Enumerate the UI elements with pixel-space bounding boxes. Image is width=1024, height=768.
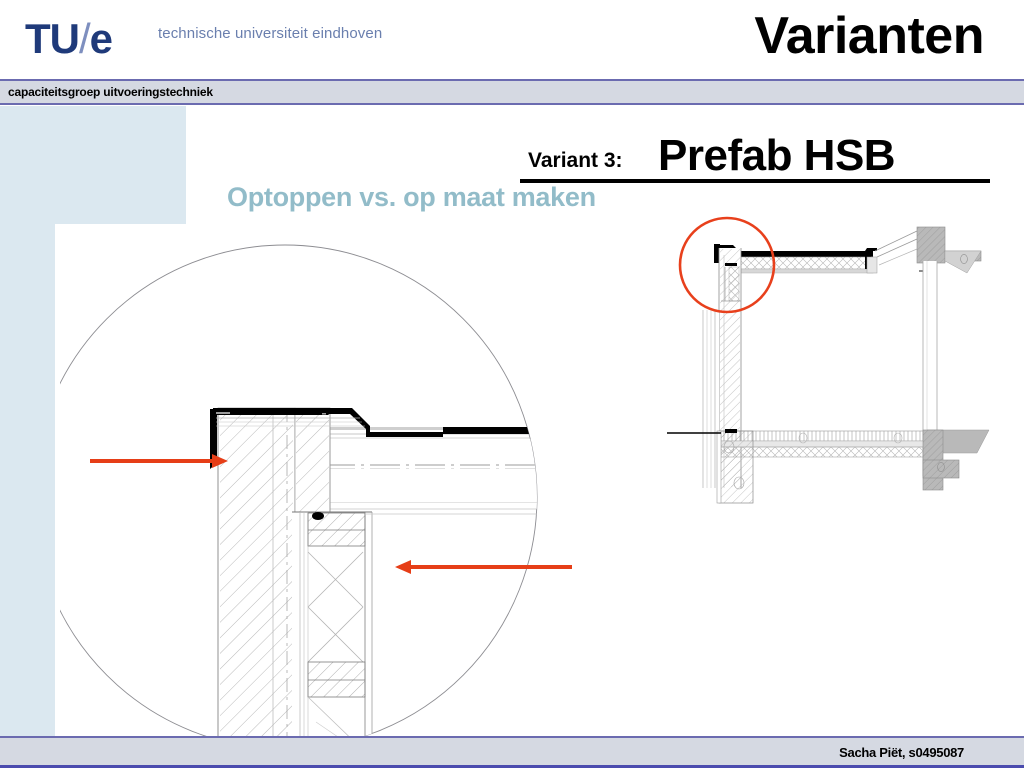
variant-heading: Variant 3: Prefab HSB xyxy=(520,131,990,183)
variant-name: Prefab HSB xyxy=(658,131,895,181)
right-figure xyxy=(655,215,1024,515)
left-figure xyxy=(60,222,590,747)
arrow-left-to-wall xyxy=(90,454,228,468)
tue-logo-mark: TU/e xyxy=(25,18,112,60)
department-band-label: capaciteitsgroep uitvoeringstechniek xyxy=(8,85,213,99)
tue-logo-mark-slash: / xyxy=(79,15,90,62)
tue-logo-mark-tu: TU xyxy=(25,15,79,62)
slide: TU/e technische universiteit eindhoven V… xyxy=(0,0,1024,768)
footer-author: Sacha Piët, s0495087 xyxy=(839,745,964,760)
fastener-dot xyxy=(312,512,324,520)
variant-label: Variant 3: xyxy=(528,149,623,173)
tue-logo: TU/e technische universiteit eindhoven xyxy=(25,14,375,72)
decor-blue-strip xyxy=(0,225,55,736)
subtitle: Optoppen vs. op maat maken xyxy=(227,182,596,213)
department-band: capaciteitsgroep uitvoeringstechniek xyxy=(0,79,1024,105)
arrow-right-to-frame xyxy=(395,560,572,574)
tue-logo-tagline: technische universiteit eindhoven xyxy=(158,25,382,42)
footer-band: Sacha Piët, s0495087 xyxy=(0,736,1024,768)
page-title: Varianten xyxy=(754,6,984,66)
decor-blue-block xyxy=(0,106,186,225)
left-detail-drawing xyxy=(210,408,590,747)
tue-logo-mark-e: e xyxy=(90,15,112,62)
